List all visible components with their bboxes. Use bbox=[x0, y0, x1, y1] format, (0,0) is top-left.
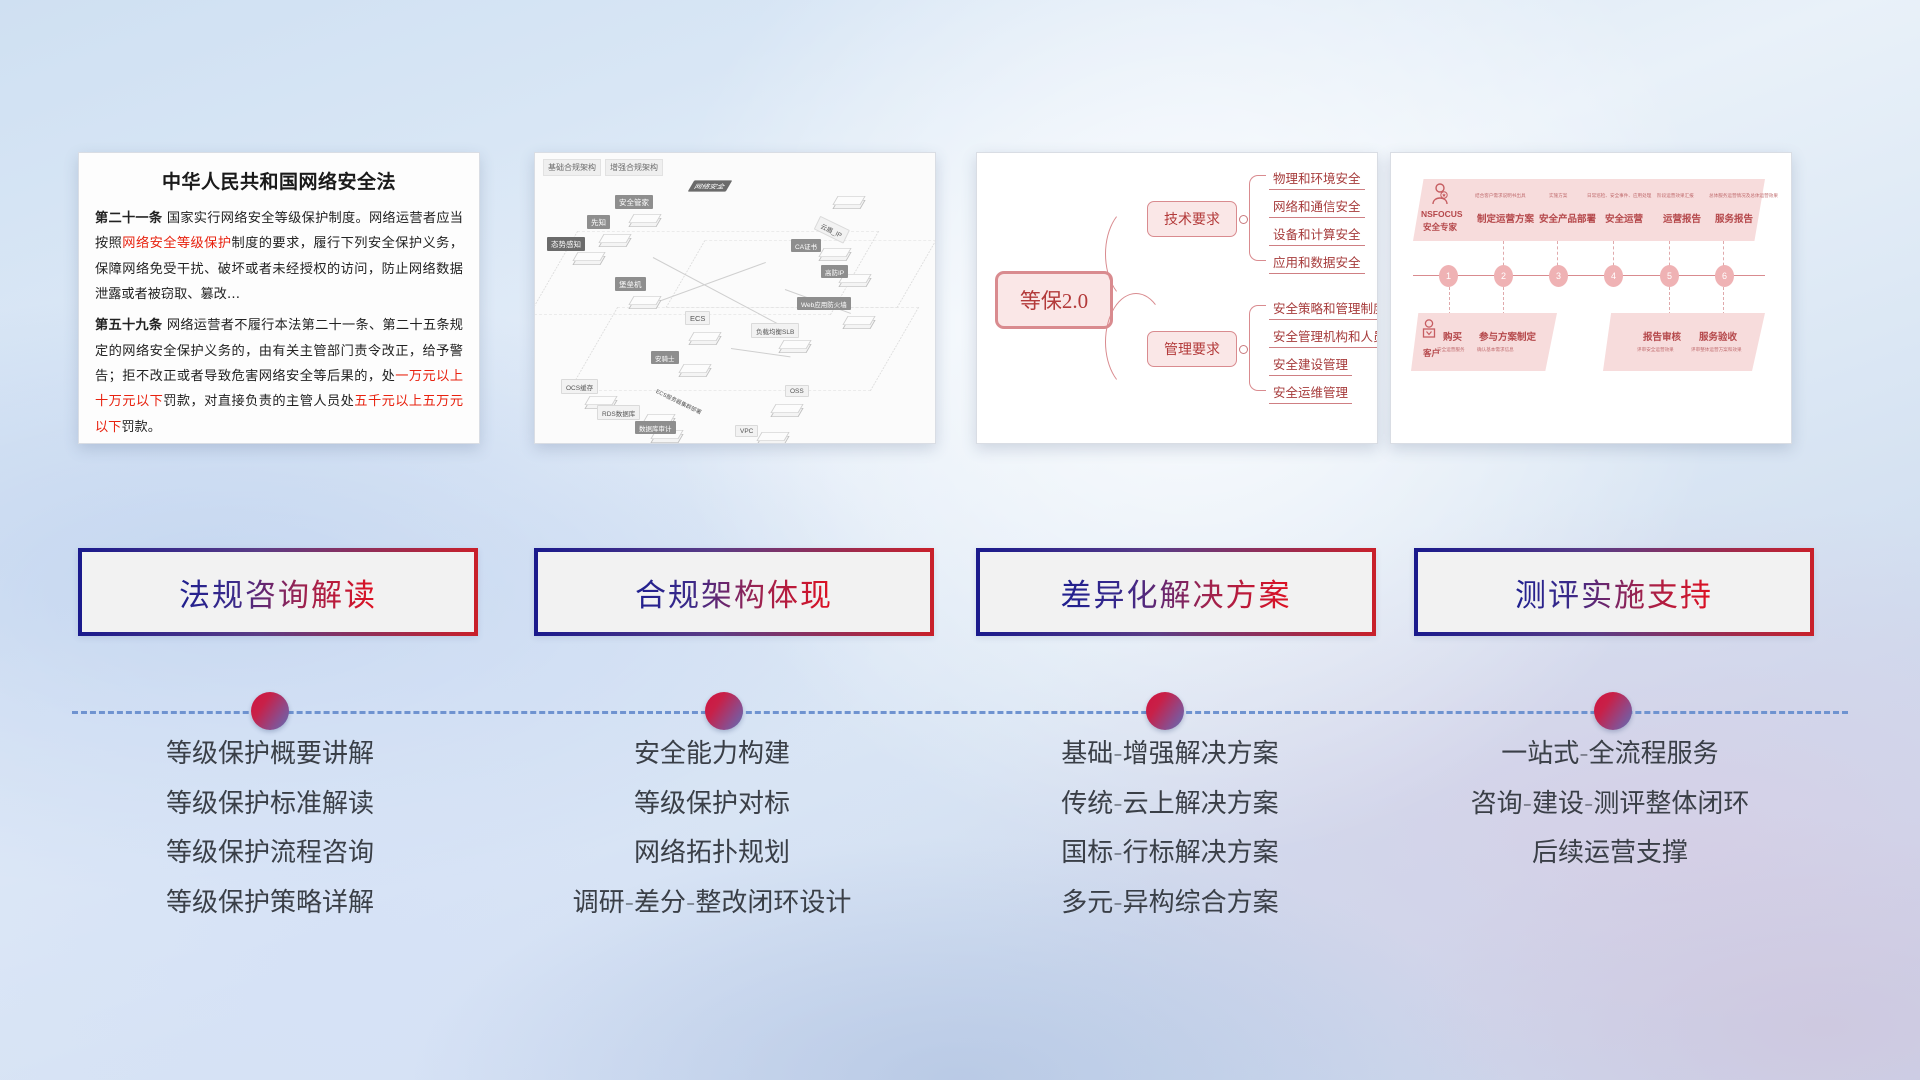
section-title-box-4[interactable]: 测评实施支持 bbox=[1414, 548, 1814, 636]
architecture-node-label: RDS数据库 bbox=[597, 405, 640, 420]
nsfocus-step-sub: 日常巡检、安全事件、应用处理 bbox=[1587, 193, 1651, 199]
nsfocus-step-main: 服务报告 bbox=[1715, 211, 1753, 225]
reference-card-row: 中华人民共和国网络安全法 第二十一条 国家实行网络安全等级保护制度。网络运营者应… bbox=[0, 152, 1920, 452]
architecture-node-label: CA证书 bbox=[791, 239, 821, 252]
law-article-21-highlight: 网络安全等级保护 bbox=[122, 236, 231, 251]
nsfocus-step-sub: 结合客户需求说明书出具 bbox=[1475, 193, 1526, 199]
mindmap-leaf: 安全管理机构和人员 bbox=[1269, 325, 1378, 348]
architecture-node bbox=[845, 313, 871, 331]
architecture-tab-basic[interactable]: 基础合规架构 bbox=[543, 159, 601, 176]
nsfocus-step-main: 安全产品部署 bbox=[1539, 211, 1596, 225]
mindmap-leaf: 安全建设管理 bbox=[1269, 353, 1352, 376]
detail-item: 一站式-全流程服务 bbox=[1390, 740, 1830, 769]
mindmap: 等保2.0 技术要求 物理和环境安全 网络和通信安全 设备和计算安全 应用和数据… bbox=[977, 153, 1377, 443]
nsfocus-step-number: 4 bbox=[1604, 265, 1623, 287]
section-title-box-1[interactable]: 法规咨询解读 bbox=[78, 548, 478, 636]
architecture-node-label: OCS缓存 bbox=[561, 379, 598, 394]
law-document: 中华人民共和国网络安全法 第二十一条 国家实行网络安全等级保护制度。网络运营者应… bbox=[79, 153, 479, 443]
section-title-box-2[interactable]: 合规架构体现 bbox=[534, 548, 934, 636]
architecture-diagram: 基础合规架构 增强合规架构 态势感知 先知 安全管家 网络安全 bbox=[535, 153, 935, 443]
architecture-node-label: 负载均衡SLB bbox=[751, 323, 799, 338]
detail-item: 国标-行标解决方案 bbox=[950, 839, 1390, 868]
timeline-dashed-line bbox=[72, 711, 1848, 714]
mindmap-branch-technical: 技术要求 bbox=[1147, 201, 1237, 237]
timeline bbox=[0, 692, 1920, 732]
detail-item: 等级保护对标 bbox=[492, 790, 932, 819]
nsfocus-bottom-step-sub: 评审整体运营方案和效果 bbox=[1691, 347, 1742, 353]
card-cybersecurity-law[interactable]: 中华人民共和国网络安全法 第二十一条 国家实行网络安全等级保护制度。网络运营者应… bbox=[78, 152, 480, 444]
detail-item: 传统-云上解决方案 bbox=[950, 790, 1390, 819]
mindmap-connector bbox=[1249, 175, 1266, 261]
timeline-dot-2[interactable] bbox=[705, 692, 743, 730]
mindmap-branch-management: 管理要求 bbox=[1147, 331, 1237, 367]
nsfocus-brand-line2: 安全专家 bbox=[1423, 221, 1457, 233]
architecture-node-label: 高防IP bbox=[821, 265, 848, 278]
detail-item: 后续运营支撑 bbox=[1390, 839, 1830, 868]
mindmap-leaf: 设备和计算安全 bbox=[1269, 223, 1365, 246]
nsfocus-step-sub: 总体服务运营情况及总体运营效果 bbox=[1709, 193, 1778, 199]
law-article-59-label: 第五十九条 bbox=[95, 318, 162, 333]
nsfocus-bottom-step-main: 服务验收 bbox=[1699, 329, 1737, 343]
detail-column-4: 一站式-全流程服务 咨询-建设-测评整体闭环 后续运营支撑 bbox=[1390, 740, 1830, 889]
nsfocus-bottom-step-main: 参与方案制定 bbox=[1479, 329, 1536, 343]
detail-item: 咨询-建设-测评整体闭环 bbox=[1390, 790, 1830, 819]
card-dengbao-mindmap[interactable]: 等保2.0 技术要求 物理和环境安全 网络和通信安全 设备和计算安全 应用和数据… bbox=[976, 152, 1378, 444]
mindmap-toggle-dot[interactable] bbox=[1239, 215, 1248, 224]
nsfocus-bottom-step-main: 报告审核 bbox=[1643, 329, 1681, 343]
architecture-node bbox=[691, 329, 721, 347]
nsfocus-connector bbox=[1669, 287, 1671, 315]
mindmap-toggle-dot[interactable] bbox=[1239, 345, 1248, 354]
mindmap-leaf: 网络和通信安全 bbox=[1269, 195, 1365, 218]
nsfocus-axis bbox=[1413, 275, 1765, 276]
detail-column-1: 等级保护概要讲解 等级保护标准解读 等级保护流程咨询 等级保护策略详解 bbox=[50, 740, 490, 938]
architecture-node-label: VPC bbox=[735, 425, 758, 437]
law-article-21: 第二十一条 国家实行网络安全等级保护制度。网络运营者应当按照网络安全等级保护制度… bbox=[95, 206, 463, 307]
architecture-node-label: 网络安全 bbox=[688, 180, 732, 191]
section-title-box-3[interactable]: 差异化解决方案 bbox=[976, 548, 1376, 636]
mindmap-leaf: 安全运维管理 bbox=[1269, 381, 1352, 404]
architecture-node-label: Web应用防火墙 bbox=[797, 297, 851, 310]
nsfocus-bottom-step-sub: 确认基本需求信息 bbox=[1477, 347, 1514, 353]
timeline-dot-3[interactable] bbox=[1146, 692, 1184, 730]
nsfocus-expert-band bbox=[1413, 179, 1765, 241]
mindmap-leaf: 安全策略和管理制度 bbox=[1269, 297, 1378, 320]
mindmap-leaf: 物理和环境安全 bbox=[1269, 167, 1365, 190]
nsfocus-step-main: 制定运营方案 bbox=[1477, 211, 1534, 225]
detail-item: 网络拓扑规划 bbox=[492, 839, 932, 868]
architecture-node bbox=[781, 337, 807, 355]
architecture-node bbox=[835, 193, 861, 211]
architecture-node-label: 安骑士 bbox=[651, 351, 679, 364]
architecture-node bbox=[773, 401, 799, 419]
nsfocus-step-number: 2 bbox=[1494, 265, 1513, 287]
nsfocus-connector bbox=[1503, 287, 1505, 315]
nsfocus-connector bbox=[1723, 287, 1725, 315]
architecture-node-label: 态势感知 bbox=[547, 237, 585, 251]
customer-icon bbox=[1421, 319, 1437, 341]
nsfocus-brand-line1: NSFOCUS bbox=[1421, 209, 1463, 219]
security-expert-icon bbox=[1431, 183, 1449, 205]
nsfocus-step-number: 3 bbox=[1549, 265, 1568, 287]
architecture-node-label: 堡垒机 bbox=[615, 277, 646, 291]
nsfocus-bottom-step-main: 购买 bbox=[1443, 329, 1462, 343]
section-title-label-1: 法规咨询解读 bbox=[179, 570, 377, 615]
detail-item: 等级保护策略详解 bbox=[50, 889, 490, 918]
architecture-node bbox=[681, 361, 707, 379]
nsfocus-step-number: 5 bbox=[1660, 265, 1679, 287]
nsfocus-step-main: 运营报告 bbox=[1663, 211, 1701, 225]
section-title-label-4: 测评实施支持 bbox=[1515, 570, 1713, 615]
architecture-node bbox=[601, 231, 627, 249]
detail-item: 等级保护概要讲解 bbox=[50, 740, 490, 769]
timeline-dot-1[interactable] bbox=[251, 692, 289, 730]
nsfocus-step-main: 安全运营 bbox=[1605, 211, 1643, 225]
architecture-node-label: OSS bbox=[785, 385, 809, 397]
architecture-node bbox=[759, 429, 785, 444]
law-article-21-label: 第二十一条 bbox=[95, 211, 162, 226]
detail-column-2: 安全能力构建 等级保护对标 网络拓扑规划 调研-差分-整改闭环设计 bbox=[492, 740, 932, 938]
nsfocus-step-sub: 阶段运营效果汇报 bbox=[1657, 193, 1694, 199]
section-title-label-3: 差异化解决方案 bbox=[1061, 570, 1292, 615]
mindmap-connector bbox=[1249, 305, 1266, 391]
architecture-node bbox=[631, 293, 657, 311]
law-article-59-text-c: 罚款。 bbox=[121, 420, 161, 435]
nsfocus-customer-band-right bbox=[1603, 313, 1765, 371]
architecture-node-label: 先知 bbox=[587, 215, 610, 229]
detail-item: 调研-差分-整改闭环设计 bbox=[492, 889, 932, 918]
card-nsfocus-service-timeline[interactable]: NSFOCUS 安全专家 结合客户需求说明书出具 制定运营方案 实施方案 安全产… bbox=[1390, 152, 1792, 444]
architecture-node-label: ECS bbox=[685, 311, 710, 325]
architecture-node bbox=[631, 211, 657, 229]
law-title: 中华人民共和国网络安全法 bbox=[95, 167, 463, 194]
architecture-node-label: 安全管家 bbox=[615, 195, 653, 209]
nsfocus-connector bbox=[1449, 287, 1451, 315]
nsfocus-bottom-step-sub: 安全运营服务 bbox=[1437, 347, 1465, 353]
detail-item: 安全能力构建 bbox=[492, 740, 932, 769]
detail-item: 等级保护流程咨询 bbox=[50, 839, 490, 868]
architecture-tabs[interactable]: 基础合规架构 增强合规架构 bbox=[543, 159, 663, 176]
timeline-dot-4[interactable] bbox=[1594, 692, 1632, 730]
card-compliance-architecture[interactable]: 基础合规架构 增强合规架构 态势感知 先知 安全管家 网络安全 bbox=[534, 152, 936, 444]
nsfocus-step-sub: 实施方案 bbox=[1549, 193, 1567, 199]
nsfocus-step-number: 6 bbox=[1715, 265, 1734, 287]
nsfocus-step-number: 1 bbox=[1439, 265, 1458, 287]
detail-item: 基础-增强解决方案 bbox=[950, 740, 1390, 769]
nsfocus-timeline: NSFOCUS 安全专家 结合客户需求说明书出具 制定运营方案 实施方案 安全产… bbox=[1391, 153, 1791, 443]
section-title-row: 法规咨询解读 合规架构体现 差异化解决方案 测评实施支持 bbox=[0, 548, 1920, 648]
section-title-label-2: 合规架构体现 bbox=[635, 570, 833, 615]
mindmap-leaf: 应用和数据安全 bbox=[1269, 251, 1365, 274]
law-article-59-text-b: 罚款，对直接负责的主管人员处 bbox=[163, 394, 354, 409]
architecture-node bbox=[575, 249, 601, 267]
nsfocus-bottom-step-sub: 评审安全运营效果 bbox=[1637, 347, 1674, 353]
architecture-tab-enhanced[interactable]: 增强合规架构 bbox=[605, 159, 663, 176]
law-article-59: 第五十九条 网络运营者不履行本法第二十一条、第二十五条规定的网络安全保护义务的，… bbox=[95, 313, 463, 440]
detail-column-3: 基础-增强解决方案 传统-云上解决方案 国标-行标解决方案 多元-异构综合方案 bbox=[950, 740, 1390, 938]
mindmap-root-node: 等保2.0 bbox=[995, 271, 1113, 329]
architecture-node-label: 数据库审计 bbox=[635, 421, 676, 434]
detail-item: 多元-异构综合方案 bbox=[950, 889, 1390, 918]
detail-item: 等级保护标准解读 bbox=[50, 790, 490, 819]
architecture-node bbox=[821, 245, 847, 263]
page-root: 中华人民共和国网络安全法 第二十一条 国家实行网络安全等级保护制度。网络运营者应… bbox=[0, 0, 1920, 1080]
